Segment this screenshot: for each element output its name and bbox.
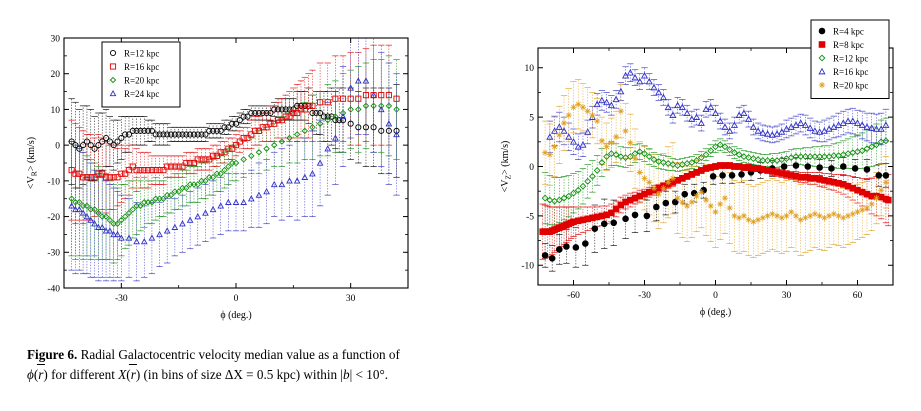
figure-6-caption-line4: (in bins of size ΔX = 0.5 (140, 367, 273, 382)
figure-6-caption-line5: kpc) within | (277, 367, 343, 382)
svg-text:30: 30 (346, 294, 356, 304)
svg-text:R=12 kpc: R=12 kpc (124, 48, 159, 58)
svg-text:-10: -10 (47, 177, 60, 187)
svg-text:ϕ (deg.): ϕ (deg.) (700, 307, 731, 318)
svg-text:0: 0 (529, 163, 534, 173)
svg-text:R=16 kpc: R=16 kpc (124, 62, 159, 72)
svg-text:60: 60 (853, 291, 863, 301)
figure-6: -30030-40-30-20-100102030ϕ (deg.)<VR> (k… (0, 0, 455, 411)
rbar-symbol-2: r (131, 367, 136, 382)
svg-text:10: 10 (525, 64, 535, 74)
svg-text:20: 20 (51, 70, 61, 80)
svg-text:0: 0 (55, 142, 60, 152)
x-symbol: X (118, 367, 126, 382)
svg-text:-5: -5 (526, 212, 534, 222)
svg-text:<VR> (km/s): <VR> (km/s) (26, 137, 39, 189)
figure-6-svg: -30030-40-30-20-100102030ϕ (deg.)<VR> (k… (0, 0, 455, 330)
figure-7: -60-3003060-10-50510ϕ (deg.)<VZ> (km/s)R… (462, 0, 921, 411)
svg-text:-30: -30 (638, 291, 651, 301)
svg-text:-40: -40 (47, 284, 60, 294)
figure-7-plot: -60-3003060-10-50510ϕ (deg.)<VZ> (km/s)R… (462, 0, 921, 330)
figure-6-caption: Figure 6. Radial Galactocentric velocity… (27, 345, 419, 384)
svg-text:R=12 kpc: R=12 kpc (833, 53, 868, 63)
phi-symbol: ϕ (27, 367, 34, 382)
figure-6-caption-line2: function of (342, 347, 400, 362)
svg-text:10: 10 (51, 106, 61, 116)
svg-text:-30: -30 (47, 249, 60, 259)
b-symbol: b (343, 367, 350, 382)
svg-text:30: 30 (782, 291, 792, 301)
svg-text:R=16 kpc: R=16 kpc (833, 67, 868, 77)
svg-text:R=20 kpc: R=20 kpc (833, 80, 868, 90)
figure-6-caption-label: Figure 6. (27, 347, 77, 362)
svg-text:<VZ> (km/s): <VZ> (km/s) (500, 141, 513, 193)
svg-text:-30: -30 (115, 294, 128, 304)
figure-6-plot: -30030-40-30-20-100102030ϕ (deg.)<VR> (k… (0, 0, 455, 330)
svg-text:0: 0 (234, 294, 239, 304)
svg-text:R=24 kpc: R=24 kpc (124, 89, 159, 99)
svg-text:30: 30 (51, 34, 61, 44)
svg-text:0: 0 (713, 291, 718, 301)
figure-7-svg: -60-3003060-10-50510ϕ (deg.)<VZ> (km/s)R… (462, 0, 921, 330)
svg-text:-10: -10 (521, 262, 534, 272)
figure-6-caption-line1: Radial Galactocentric velocity median va… (81, 347, 339, 362)
figure-page: -30030-40-30-20-100102030ϕ (deg.)<VR> (k… (0, 0, 921, 411)
svg-text:-20: -20 (47, 213, 60, 223)
svg-text:-60: -60 (567, 291, 580, 301)
svg-text:ϕ (deg.): ϕ (deg.) (220, 310, 251, 321)
figure-6-caption-line6: | < 10°. (350, 367, 388, 382)
svg-text:R=20 kpc: R=20 kpc (124, 75, 159, 85)
figure-6-caption-line3: for different (48, 367, 118, 382)
svg-text:R=8 kpc: R=8 kpc (833, 40, 864, 50)
svg-text:R=4 kpc: R=4 kpc (833, 26, 864, 36)
svg-text:5: 5 (529, 114, 534, 124)
rbar-symbol: r (38, 367, 43, 382)
